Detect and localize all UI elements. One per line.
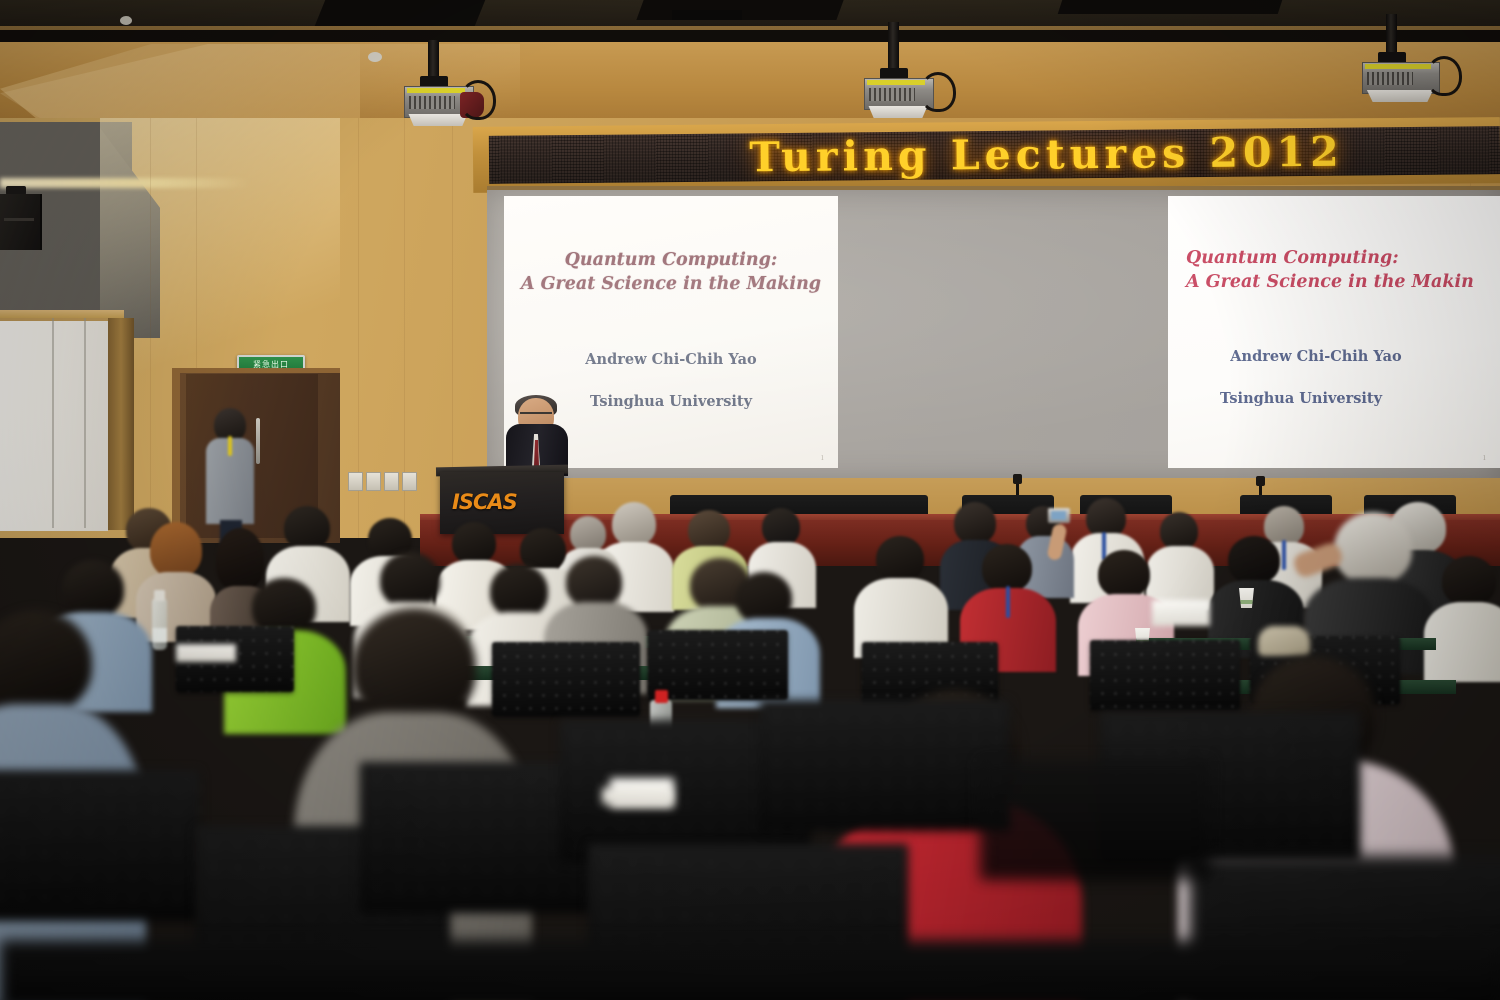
projector-cable — [460, 80, 496, 120]
wall-switch[interactable] — [384, 472, 399, 491]
head — [1228, 536, 1280, 584]
cup-band — [1239, 600, 1254, 604]
head — [452, 522, 496, 564]
bottle-cap — [154, 590, 165, 601]
paper-sheet — [176, 644, 236, 662]
chair-perforation — [1090, 640, 1240, 710]
roller-blind[interactable] — [0, 318, 108, 531]
podium-logo-text: ISCAS — [452, 490, 517, 514]
head — [688, 510, 730, 550]
chair-perforation — [648, 630, 788, 700]
slide-title-line1: Quantum Computing: — [1186, 248, 1399, 268]
head — [216, 528, 264, 590]
hat — [1258, 626, 1310, 656]
slide-title-right: Quantum Computing: A Great Science in th… — [1168, 246, 1500, 294]
head — [736, 572, 792, 624]
head — [150, 522, 202, 578]
door-handle-icon[interactable] — [256, 418, 260, 464]
head — [570, 516, 606, 552]
roller-blind-seam — [52, 318, 54, 528]
auditorium-chair[interactable] — [760, 700, 1010, 830]
glasses-icon — [520, 412, 552, 421]
projector-cable — [920, 72, 956, 112]
wall-switch[interactable] — [366, 472, 381, 491]
head — [954, 502, 996, 544]
camera-icon — [1048, 508, 1070, 523]
bottle-label — [152, 628, 167, 642]
head — [1086, 498, 1126, 538]
water-bottle — [152, 598, 167, 650]
head — [1442, 556, 1496, 606]
curtain-edge — [108, 318, 134, 530]
projector-label-strip — [1365, 64, 1431, 69]
auditorium-chair[interactable] — [648, 630, 788, 700]
head — [1160, 512, 1198, 550]
chair-perforation — [760, 700, 1010, 830]
slide-author-right: Andrew Chi-Chih Yao — [1168, 348, 1500, 365]
projector-vents — [869, 88, 915, 101]
head — [1098, 550, 1150, 598]
lanyard — [1006, 586, 1010, 618]
slide-affiliation-right: Tsinghua University — [1168, 390, 1500, 407]
lecture-hall-photo: 紧急出口 EXIT Turing Lectures 2012 Quantum C… — [0, 0, 1500, 1000]
projector-label-strip — [407, 88, 465, 93]
head — [982, 544, 1032, 592]
paper-sheet — [602, 788, 672, 804]
led-banner-text: Turing Lectures 2012 — [749, 128, 1344, 182]
bottle-cap — [655, 690, 668, 703]
slide-author-left: Andrew Chi-Chih Yao — [504, 351, 838, 368]
lanyard — [228, 436, 232, 456]
foreground-shadow — [0, 940, 1500, 1000]
head — [1334, 512, 1412, 584]
slide-page-number-right: 1 — [1483, 454, 1487, 462]
auditorium-chair[interactable] — [0, 770, 200, 920]
head — [62, 560, 124, 618]
roller-blind-seam — [84, 318, 86, 528]
projector-lens-icon — [1364, 90, 1436, 102]
paper-sheet — [1152, 600, 1210, 626]
slide-title-line2: A Great Science in the Making — [521, 274, 821, 294]
head — [352, 608, 476, 724]
projector-vents — [409, 96, 455, 109]
head — [380, 552, 440, 608]
chair-perforation — [492, 642, 640, 716]
led-banner: Turing Lectures 2012 — [489, 126, 1500, 184]
ceiling-smoke-detector — [368, 52, 382, 62]
wall-switch[interactable] — [348, 472, 363, 491]
ceiling-vent — [672, 10, 742, 20]
projected-slide-right: Quantum Computing: A Great Science in th… — [1168, 196, 1500, 468]
foreground-shadow — [980, 760, 1210, 880]
auditorium-chair[interactable] — [1090, 640, 1240, 710]
ceiling-slat — [1058, 0, 1283, 14]
projector-lens-icon — [866, 106, 930, 118]
lanyard — [1282, 540, 1286, 570]
head — [490, 564, 548, 618]
chair-perforation — [0, 770, 200, 920]
slide-title-left: Quantum Computing: A Great Science in th… — [504, 248, 838, 296]
slide-title-line2: A Great Science in the Makin — [1186, 272, 1474, 292]
slide-title-line1: Quantum Computing: — [565, 250, 778, 270]
projector-label-strip — [867, 80, 925, 85]
head — [762, 508, 800, 546]
head — [612, 502, 656, 546]
podium: ISCAS — [440, 472, 564, 534]
projector-vents — [1367, 72, 1413, 85]
cove-strip-light — [0, 178, 250, 188]
wall-switch[interactable] — [402, 472, 417, 491]
projector-cable — [1426, 56, 1462, 96]
slide-page-number-left: 1 — [821, 454, 825, 462]
wall-speaker-icon — [0, 194, 42, 250]
head — [284, 506, 330, 550]
head — [876, 536, 924, 582]
head — [566, 556, 622, 608]
wall-grain-line — [150, 118, 151, 538]
camera-screen — [1051, 511, 1066, 520]
ceiling-smoke-detector — [120, 16, 132, 25]
auditorium-chair[interactable] — [492, 642, 640, 716]
ceiling-slat — [315, 0, 486, 26]
